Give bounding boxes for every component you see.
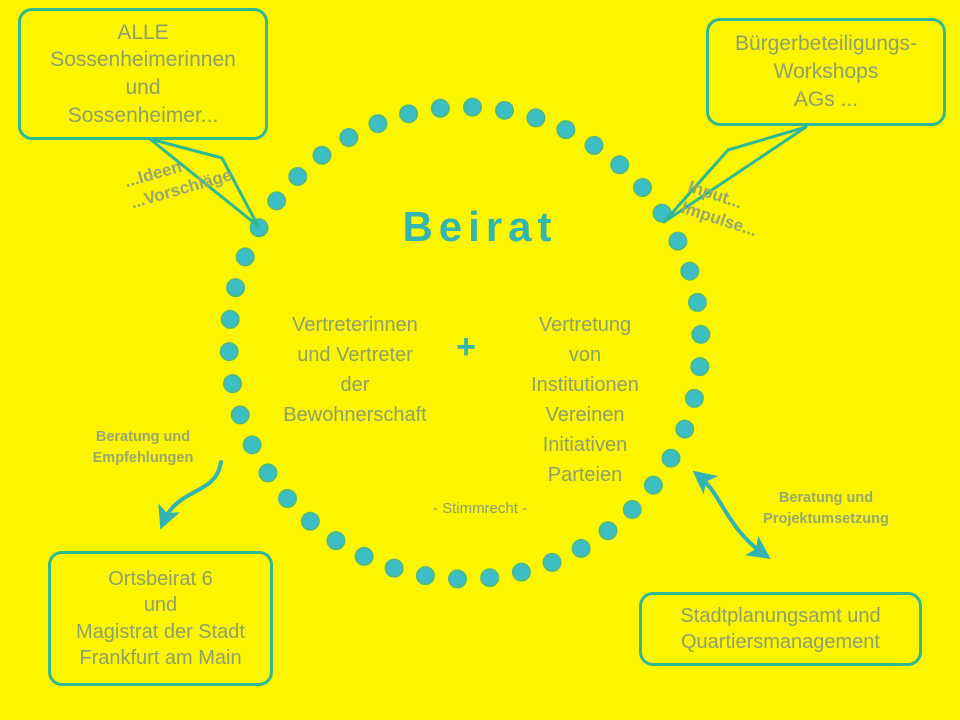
circle-dot	[691, 358, 708, 375]
annotation-beratung-projektumsetzung: Beratung undProjektumsetzung	[742, 488, 910, 529]
circle-dot	[313, 147, 330, 164]
circle-dot	[464, 99, 481, 116]
circle-dot	[386, 560, 403, 577]
speech-bubble-residents-text: ALLESossenheimerinnenundSossenheimer...	[31, 19, 255, 130]
box-ortsbeirat-magistrat-text: Ortsbeirat 6undMagistrat der StadtFrankf…	[61, 566, 260, 672]
circle-dot	[585, 137, 602, 154]
circle-dot	[259, 464, 276, 481]
circle-dot	[689, 294, 706, 311]
circle-dot	[481, 569, 498, 586]
circle-dot	[686, 390, 703, 407]
circle-dot	[369, 115, 386, 132]
circle-dot	[496, 102, 513, 119]
circle-dot	[227, 279, 244, 296]
speech-bubble-workshops[interactable]: Bürgerbeteiligungs-WorkshopsAGs ...	[706, 18, 946, 126]
circle-dot	[417, 567, 434, 584]
circle-dot	[513, 564, 530, 581]
circle-dot	[611, 156, 628, 173]
circle-dot	[573, 540, 590, 557]
box-stadtplanungsamt-text: Stadtplanungsamt undQuartiersmanagement	[652, 603, 909, 656]
circle-dot	[224, 375, 241, 392]
speech-bubble-workshops-text: Bürgerbeteiligungs-WorkshopsAGs ...	[719, 30, 933, 113]
circle-dot	[676, 421, 693, 438]
speech-bubble-residents[interactable]: ALLESossenheimerinnenundSossenheimer...	[18, 8, 268, 140]
circle-dot	[432, 100, 449, 117]
council-members-residents: Vertreterinnenund VertreterderBewohnersc…	[262, 310, 448, 430]
circle-dot	[544, 554, 561, 571]
box-stadtplanungsamt[interactable]: Stadtplanungsamt undQuartiersmanagement	[639, 592, 922, 666]
circle-dot	[681, 263, 698, 280]
circle-dot	[289, 168, 306, 185]
council-members-institutions: VertretungvonInstitutionenVereinenInitia…	[492, 310, 678, 490]
circle-dot	[244, 436, 261, 453]
diagram-title: Beirat	[0, 203, 960, 251]
circle-dot	[328, 532, 345, 549]
annotation-beratung-empfehlungen: Beratung undEmpfehlungen	[78, 427, 208, 468]
circle-dot	[400, 105, 417, 122]
circle-dot	[356, 548, 373, 565]
box-ortsbeirat-magistrat[interactable]: Ortsbeirat 6undMagistrat der StadtFrankf…	[48, 551, 273, 686]
circle-dot	[634, 179, 651, 196]
circle-dot	[222, 311, 239, 328]
circle-dot	[340, 129, 357, 146]
circle-dot	[221, 343, 238, 360]
circle-dot	[232, 406, 249, 423]
plus-icon: +	[448, 330, 484, 364]
diagram-canvas: ALLESossenheimerinnenundSossenheimer... …	[0, 0, 960, 720]
circle-dot	[692, 326, 709, 343]
circle-dot	[557, 121, 574, 138]
circle-dot	[527, 109, 544, 126]
circle-dot	[600, 522, 617, 539]
circle-dot	[449, 570, 466, 587]
